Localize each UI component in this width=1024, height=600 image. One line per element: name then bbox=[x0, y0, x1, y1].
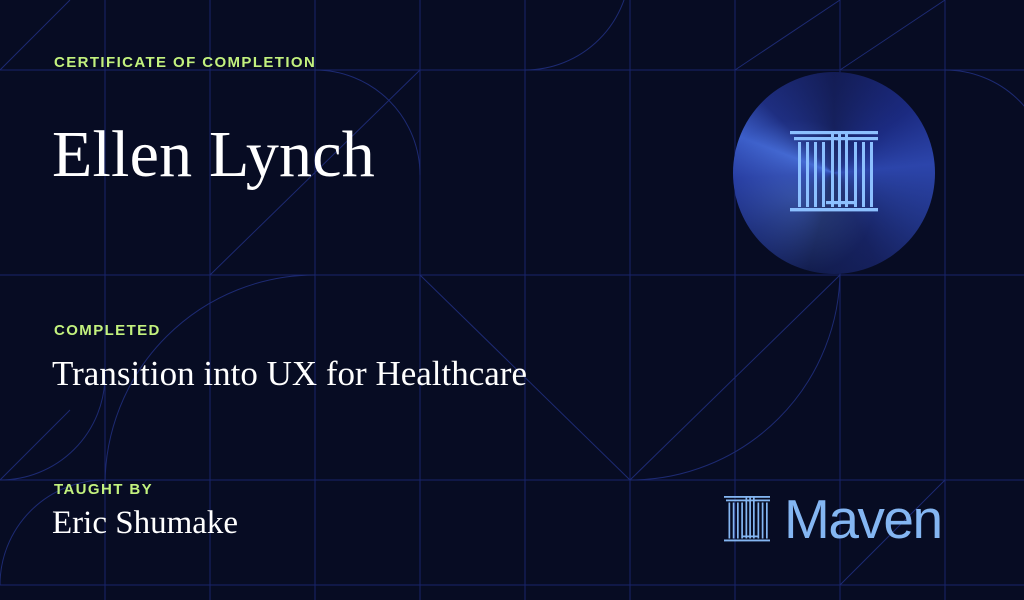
maven-brand-lockup: Maven bbox=[722, 492, 942, 547]
maven-pillars-emblem-icon bbox=[784, 125, 884, 221]
certificate-card: CERTIFICATE OF COMPLETION Ellen Lynch CO… bbox=[0, 0, 1024, 600]
eyebrow-certificate-of-completion: CERTIFICATE OF COMPLETION bbox=[54, 54, 316, 71]
maven-pillars-logo-icon bbox=[722, 494, 772, 546]
course-title: Transition into UX for Healthcare bbox=[52, 356, 527, 391]
eyebrow-completed: COMPLETED bbox=[54, 322, 161, 339]
instructor-name: Eric Shumake bbox=[52, 507, 238, 540]
certificate-seal-badge bbox=[733, 72, 935, 274]
eyebrow-taught-by: TAUGHT BY bbox=[54, 481, 153, 498]
recipient-name: Ellen Lynch bbox=[52, 122, 375, 188]
maven-wordmark: Maven bbox=[784, 492, 942, 547]
